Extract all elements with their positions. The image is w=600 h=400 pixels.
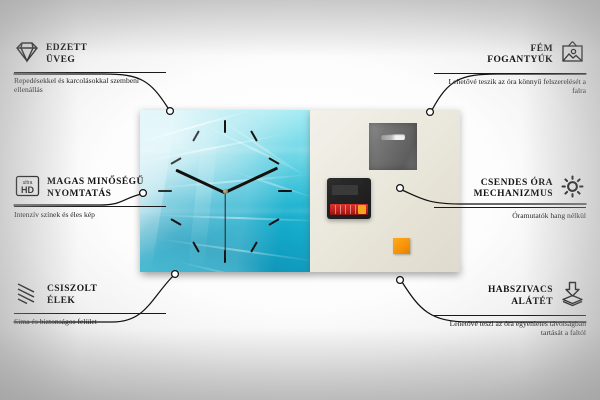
hour-marker (224, 120, 226, 133)
second-hand (224, 192, 225, 258)
callout-divider (434, 315, 586, 316)
metal-hanger (369, 123, 417, 170)
callout-divider (434, 73, 586, 74)
callout-description: Lehetővé teszik az óra könnyű felszerelé… (434, 77, 586, 96)
callout-csiszolt-elek[interactable]: CSISZOLT ÉLEK Sima és biztonságos felüle… (14, 281, 166, 326)
callout-divider (14, 72, 166, 73)
callout-divider (434, 207, 586, 208)
battery (330, 204, 368, 215)
diagonal-lines-icon (14, 281, 41, 310)
mechanism-plate (332, 185, 358, 195)
foam-pad-arrow-icon (559, 281, 586, 312)
callout-description: Intenzív színek és éles kép (14, 210, 166, 219)
hour-marker (170, 157, 181, 165)
callout-title-line1: EDZETT (46, 43, 87, 55)
callout-title-line1: HABSZIVACS (488, 285, 553, 297)
hour-marker (278, 190, 292, 192)
callout-fem-fogantyuk[interactable]: FÉM FOGANTYÚK Lehetővé teszik az óra kön… (434, 40, 586, 96)
callout-title-line1: CSENDES ÓRA (474, 178, 553, 190)
callout-title-line2: ALÁTÉT (488, 297, 553, 309)
callout-title-line2: ÉLEK (47, 296, 97, 308)
callout-divider (14, 313, 166, 314)
callout-title-line2: MECHANIZMUS (474, 189, 553, 201)
ultra-hd-icon: ultra HD (14, 174, 41, 203)
hour-marker (192, 130, 200, 141)
callout-title-line1: CSISZOLT (47, 284, 97, 296)
callout-title-line2: FOGANTYÚK (487, 55, 553, 67)
callout-description: Óramutatók hang nélkül (434, 211, 586, 220)
callout-title-line2: NYOMTATÁS (47, 189, 144, 201)
picture-frame-hanger-icon (559, 40, 586, 70)
mechanism-loop (342, 178, 361, 185)
callout-title-line1: MAGAS MINŐSÉGŰ (47, 177, 144, 189)
callout-description: Lehetővé teszi az óra egyenletes távolsá… (434, 319, 586, 338)
diamond-gem-icon (14, 40, 40, 69)
callout-title-line1: FÉM (487, 44, 553, 56)
callout-magas-minosegu-nyomtatas[interactable]: ultra HD MAGAS MINŐSÉGŰ NYOMTATÁS Intenz… (14, 174, 166, 219)
callout-description: Sima és biztonságos felület (14, 317, 166, 326)
hanger-slot (381, 134, 405, 140)
clock-pivot (223, 189, 228, 194)
clock-mechanism (327, 178, 371, 219)
callout-edzett-uveg[interactable]: EDZETT ÜVEG Repedésekkel és karcolásokka… (14, 40, 166, 95)
gear-icon (559, 174, 586, 204)
callout-title-line2: ÜVEG (46, 55, 87, 67)
battery-plus-terminal (358, 205, 366, 214)
foam-pad (393, 238, 410, 254)
callout-divider (14, 206, 166, 207)
hour-marker (170, 218, 181, 226)
callout-habszivacs-alatet[interactable]: HABSZIVACS ALÁTÉT Lehetővé teszi az óra … (434, 281, 586, 338)
svg-text:HD: HD (21, 185, 34, 195)
callout-description: Repedésekkel és karcolásokkal szembeni e… (14, 76, 166, 95)
infographic-canvas: EDZETT ÜVEG Repedésekkel és karcolásokka… (0, 0, 600, 400)
callout-csendes-ora-mechanizmus[interactable]: CSENDES ÓRA MECHANIZMUS Óramutatók hang … (434, 174, 586, 220)
